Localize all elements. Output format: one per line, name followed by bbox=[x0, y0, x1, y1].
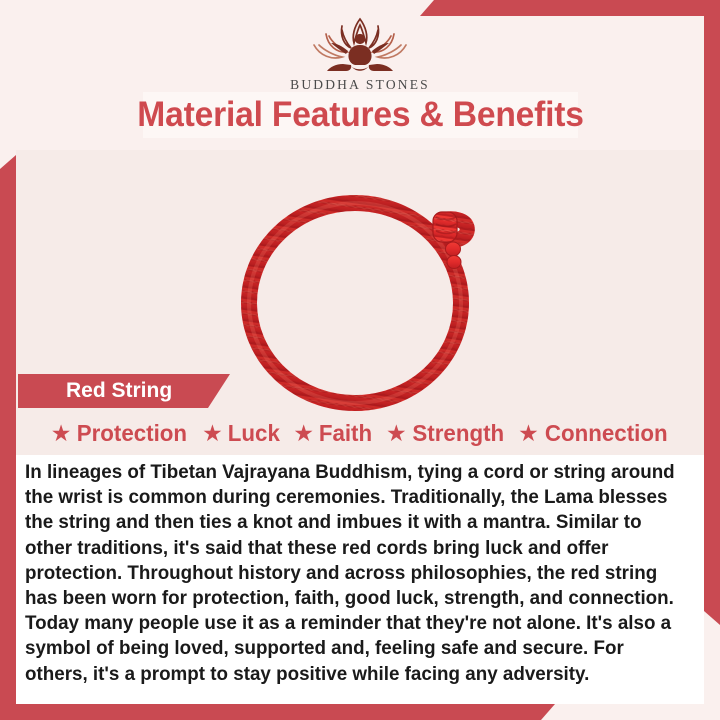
benefit-item-luck: ★ Luck bbox=[202, 420, 280, 447]
star-icon: ★ bbox=[51, 422, 72, 445]
star-icon: ★ bbox=[202, 422, 223, 445]
page-title-band: Material Features & Benefits bbox=[143, 92, 578, 138]
description-paragraph: In lineages of Tibetan Vajrayana Buddhis… bbox=[25, 460, 687, 687]
benefit-label: Connection bbox=[545, 420, 668, 447]
benefit-item-faith: ★ Faith bbox=[293, 420, 373, 447]
frame-accent-top-right bbox=[420, 0, 720, 16]
star-icon: ★ bbox=[518, 422, 539, 445]
brand-logo: BUDDHA STONES bbox=[0, 16, 720, 93]
frame-accent-right bbox=[704, 0, 720, 625]
benefit-item-protection: ★ Protection bbox=[51, 420, 189, 447]
benefit-item-connection: ★ Connection bbox=[518, 420, 669, 447]
frame-accent-bottom-left bbox=[0, 704, 555, 720]
star-icon: ★ bbox=[293, 422, 314, 445]
benefit-label: Faith bbox=[319, 420, 372, 447]
material-name: Red String bbox=[66, 379, 172, 403]
red-braided-cord-bracelet-icon bbox=[231, 186, 489, 414]
frame-accent-left bbox=[0, 155, 16, 720]
benefit-label: Strength bbox=[412, 420, 504, 447]
benefit-label: Luck bbox=[228, 420, 280, 447]
star-icon: ★ bbox=[386, 422, 407, 445]
benefit-list: ★ Protection ★ Luck ★ Faith ★ Strength ★… bbox=[16, 420, 704, 447]
page-title: Material Features & Benefits bbox=[137, 95, 584, 135]
benefit-item-strength: ★ Strength bbox=[386, 420, 505, 447]
brand-name: BUDDHA STONES bbox=[290, 77, 430, 93]
lotus-meditation-icon bbox=[302, 16, 418, 74]
benefit-label: Protection bbox=[77, 420, 187, 447]
product-feature-poster: BUDDHA STONES Material Features & Benefi… bbox=[0, 0, 720, 720]
material-ribbon: Red String bbox=[18, 374, 230, 408]
